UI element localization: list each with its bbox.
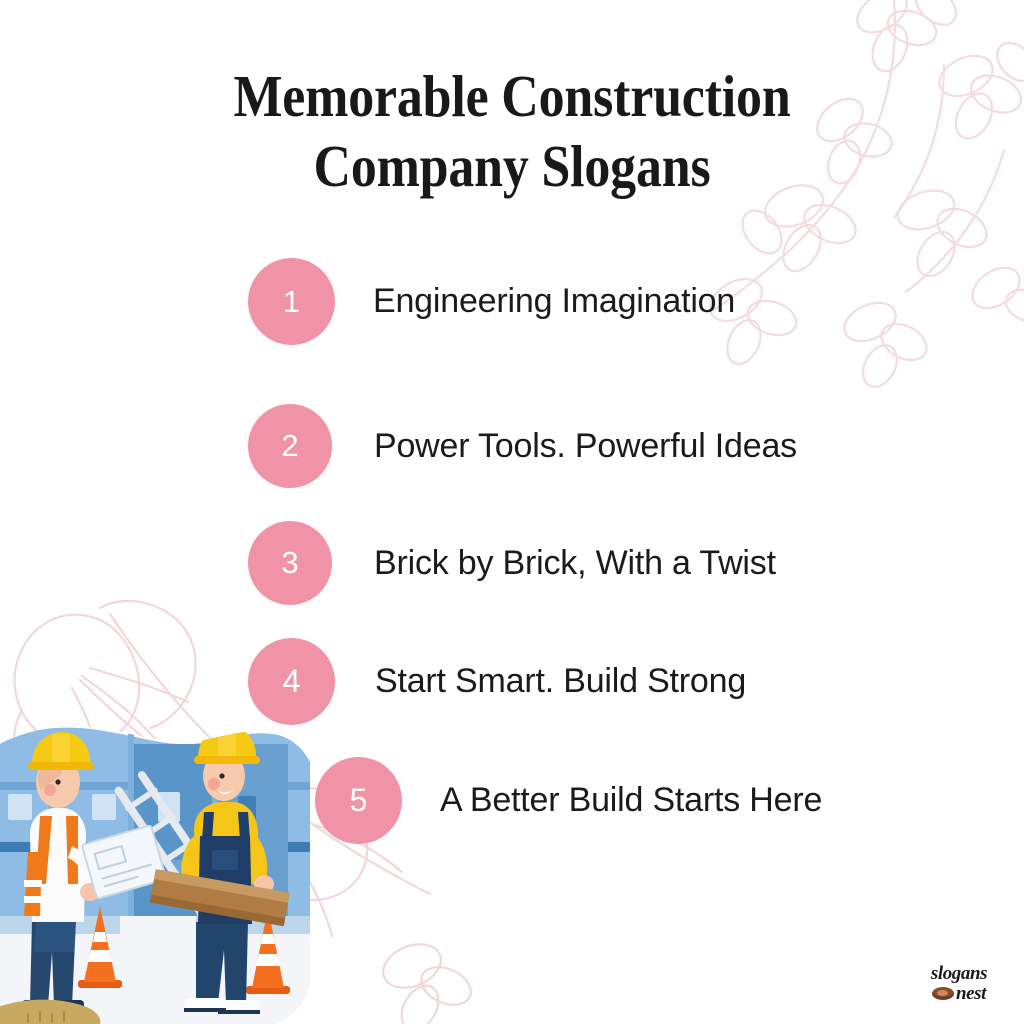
construction-workers-illustration <box>0 684 318 1024</box>
brand-logo[interactable]: slogans nest <box>916 964 1002 1010</box>
brand-logo-line-2-wrap: nest <box>916 984 1002 1003</box>
list-item-label: Engineering Imagination <box>373 282 735 321</box>
list-item[interactable]: 2 Power Tools. Powerful Ideas <box>248 404 797 488</box>
list-item-number-badge: 4 <box>248 638 335 725</box>
page-title-line-2: Company Slogans <box>61 132 962 202</box>
list-item-label: Brick by Brick, With a Twist <box>374 544 776 583</box>
list-item-number-badge: 2 <box>248 404 332 488</box>
list-item-label: A Better Build Starts Here <box>440 781 822 820</box>
nest-icon <box>932 987 954 1000</box>
brand-logo-line-2: nest <box>956 984 986 1003</box>
list-item-label: Power Tools. Powerful Ideas <box>374 427 797 466</box>
list-item[interactable]: 3 Brick by Brick, With a Twist <box>248 521 776 605</box>
list-item[interactable]: 5 A Better Build Starts Here <box>315 757 822 844</box>
list-item-number-badge: 5 <box>315 757 402 844</box>
brand-logo-line-1: slogans <box>916 964 1002 983</box>
list-item[interactable]: 1 Engineering Imagination <box>248 258 735 345</box>
page-title-line-1: Memorable Construction <box>61 62 962 132</box>
list-item-number-badge: 1 <box>248 258 335 345</box>
list-item[interactable]: 4 Start Smart. Build Strong <box>248 638 746 725</box>
page-title: Memorable Construction Company Slogans <box>0 62 1024 201</box>
poster-canvas: Memorable Construction Company Slogans <box>0 0 1024 1024</box>
list-item-label: Start Smart. Build Strong <box>375 662 746 701</box>
list-item-number-badge: 3 <box>248 521 332 605</box>
